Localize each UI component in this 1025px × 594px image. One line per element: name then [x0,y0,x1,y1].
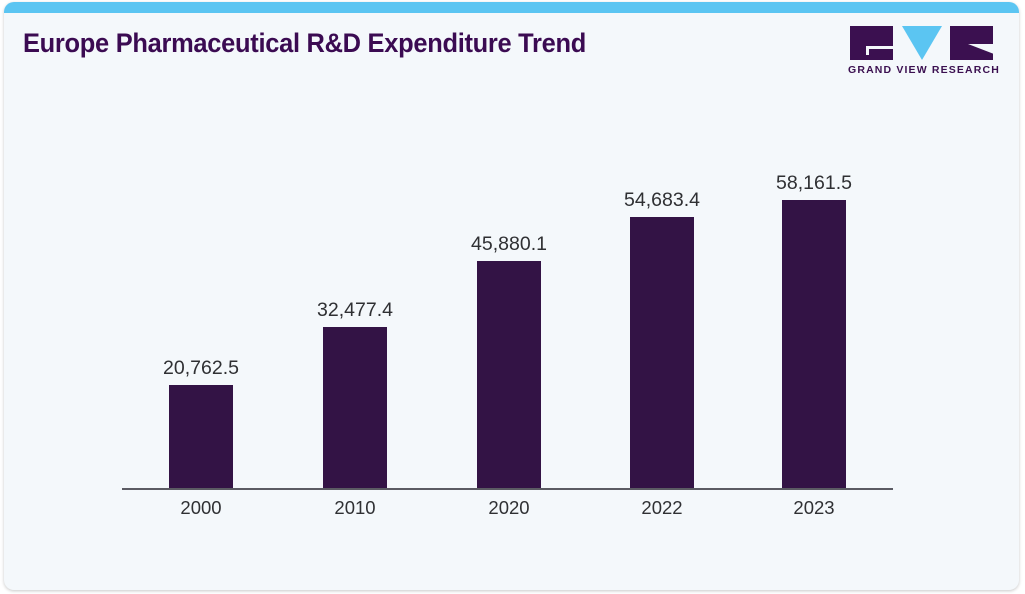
bar-value-label-2000: 20,762.5 [163,357,239,380]
bar-2022[interactable] [630,217,694,488]
bar-2000[interactable] [169,385,233,488]
bar-value-label-2023: 58,161.5 [776,172,852,195]
x-tick-label-2022: 2022 [641,497,682,519]
bar-value-label-2010: 32,477.4 [317,299,393,322]
bar-value-label-2022: 54,683.4 [624,189,700,212]
bar-2023[interactable] [782,200,846,488]
bar-2010[interactable] [323,327,387,488]
bar-chart-plot: 20,762.5 2000 32,477.4 2010 45,880.1 202… [4,2,1019,590]
x-tick-label-2000: 2000 [180,497,221,519]
x-tick-label-2020: 2020 [488,497,529,519]
x-tick-label-2010: 2010 [334,497,375,519]
chart-card: Europe Pharmaceutical R&D Expenditure Tr… [4,2,1019,590]
bar-2020[interactable] [477,261,541,488]
x-tick-label-2023: 2023 [793,497,834,519]
bar-value-label-2020: 45,880.1 [471,233,547,256]
x-axis-line [122,488,893,490]
